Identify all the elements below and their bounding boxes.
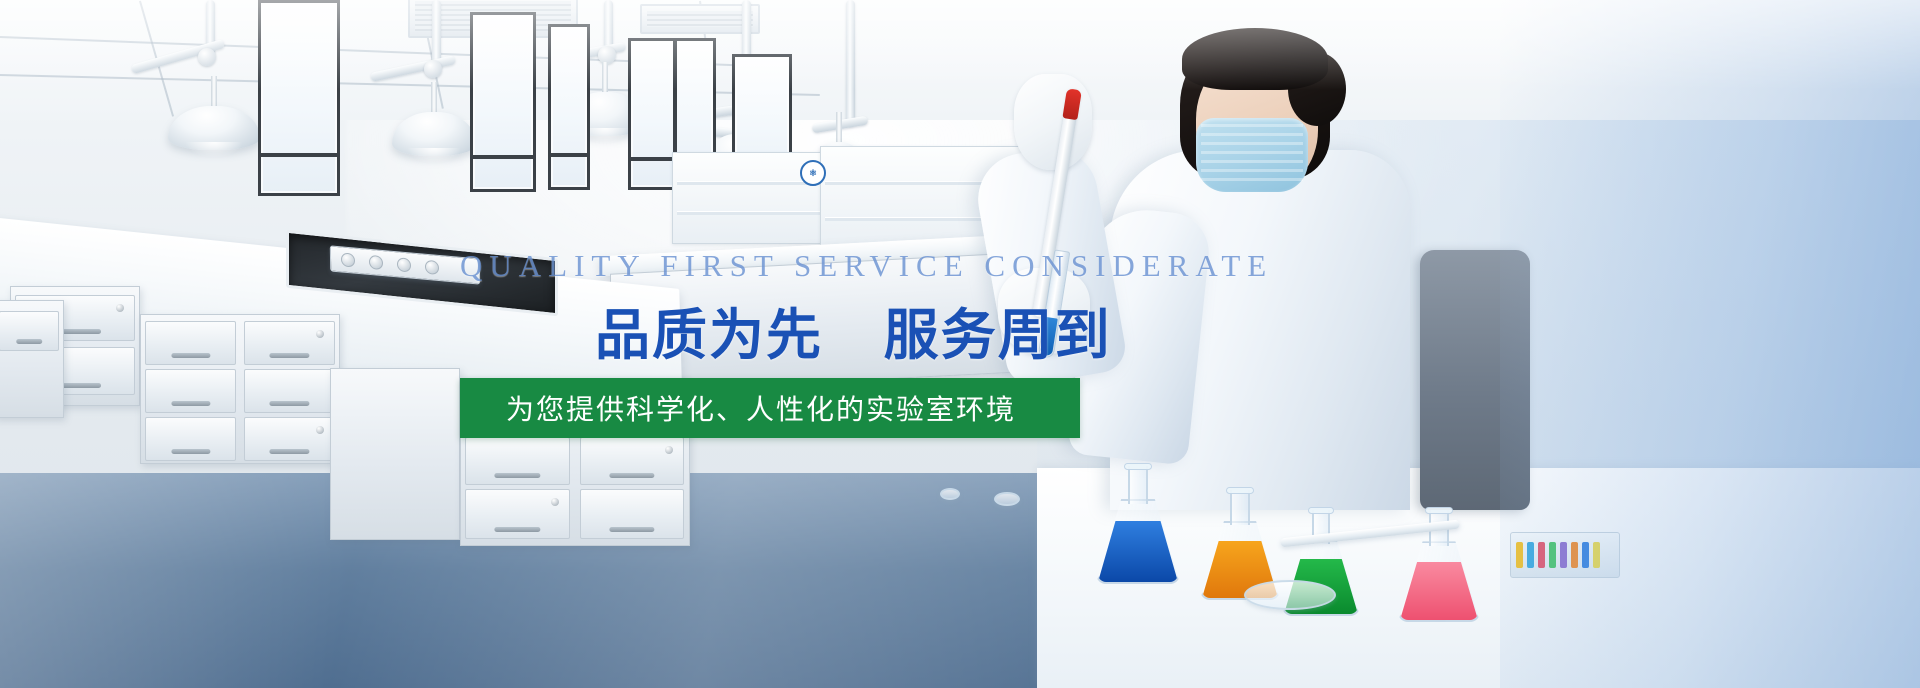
banner-text-overlay: QUALITY FIRST SERVICE CONSIDERATE 品质为先 服… bbox=[0, 0, 1920, 688]
headline-left: 品质为先 bbox=[595, 304, 823, 366]
headline: 品质为先 服务周到 bbox=[595, 290, 1112, 370]
subtitle-text: 为您提供科学化、人性化的实验室环境 bbox=[460, 388, 1016, 428]
headline-right: 服务周到 bbox=[884, 304, 1112, 366]
hero-banner: ⚛ bbox=[0, 0, 1920, 688]
subtitle-bar: 为您提供科学化、人性化的实验室环境 bbox=[460, 378, 1080, 438]
english-tagline: QUALITY FIRST SERVICE CONSIDERATE bbox=[460, 248, 1273, 284]
